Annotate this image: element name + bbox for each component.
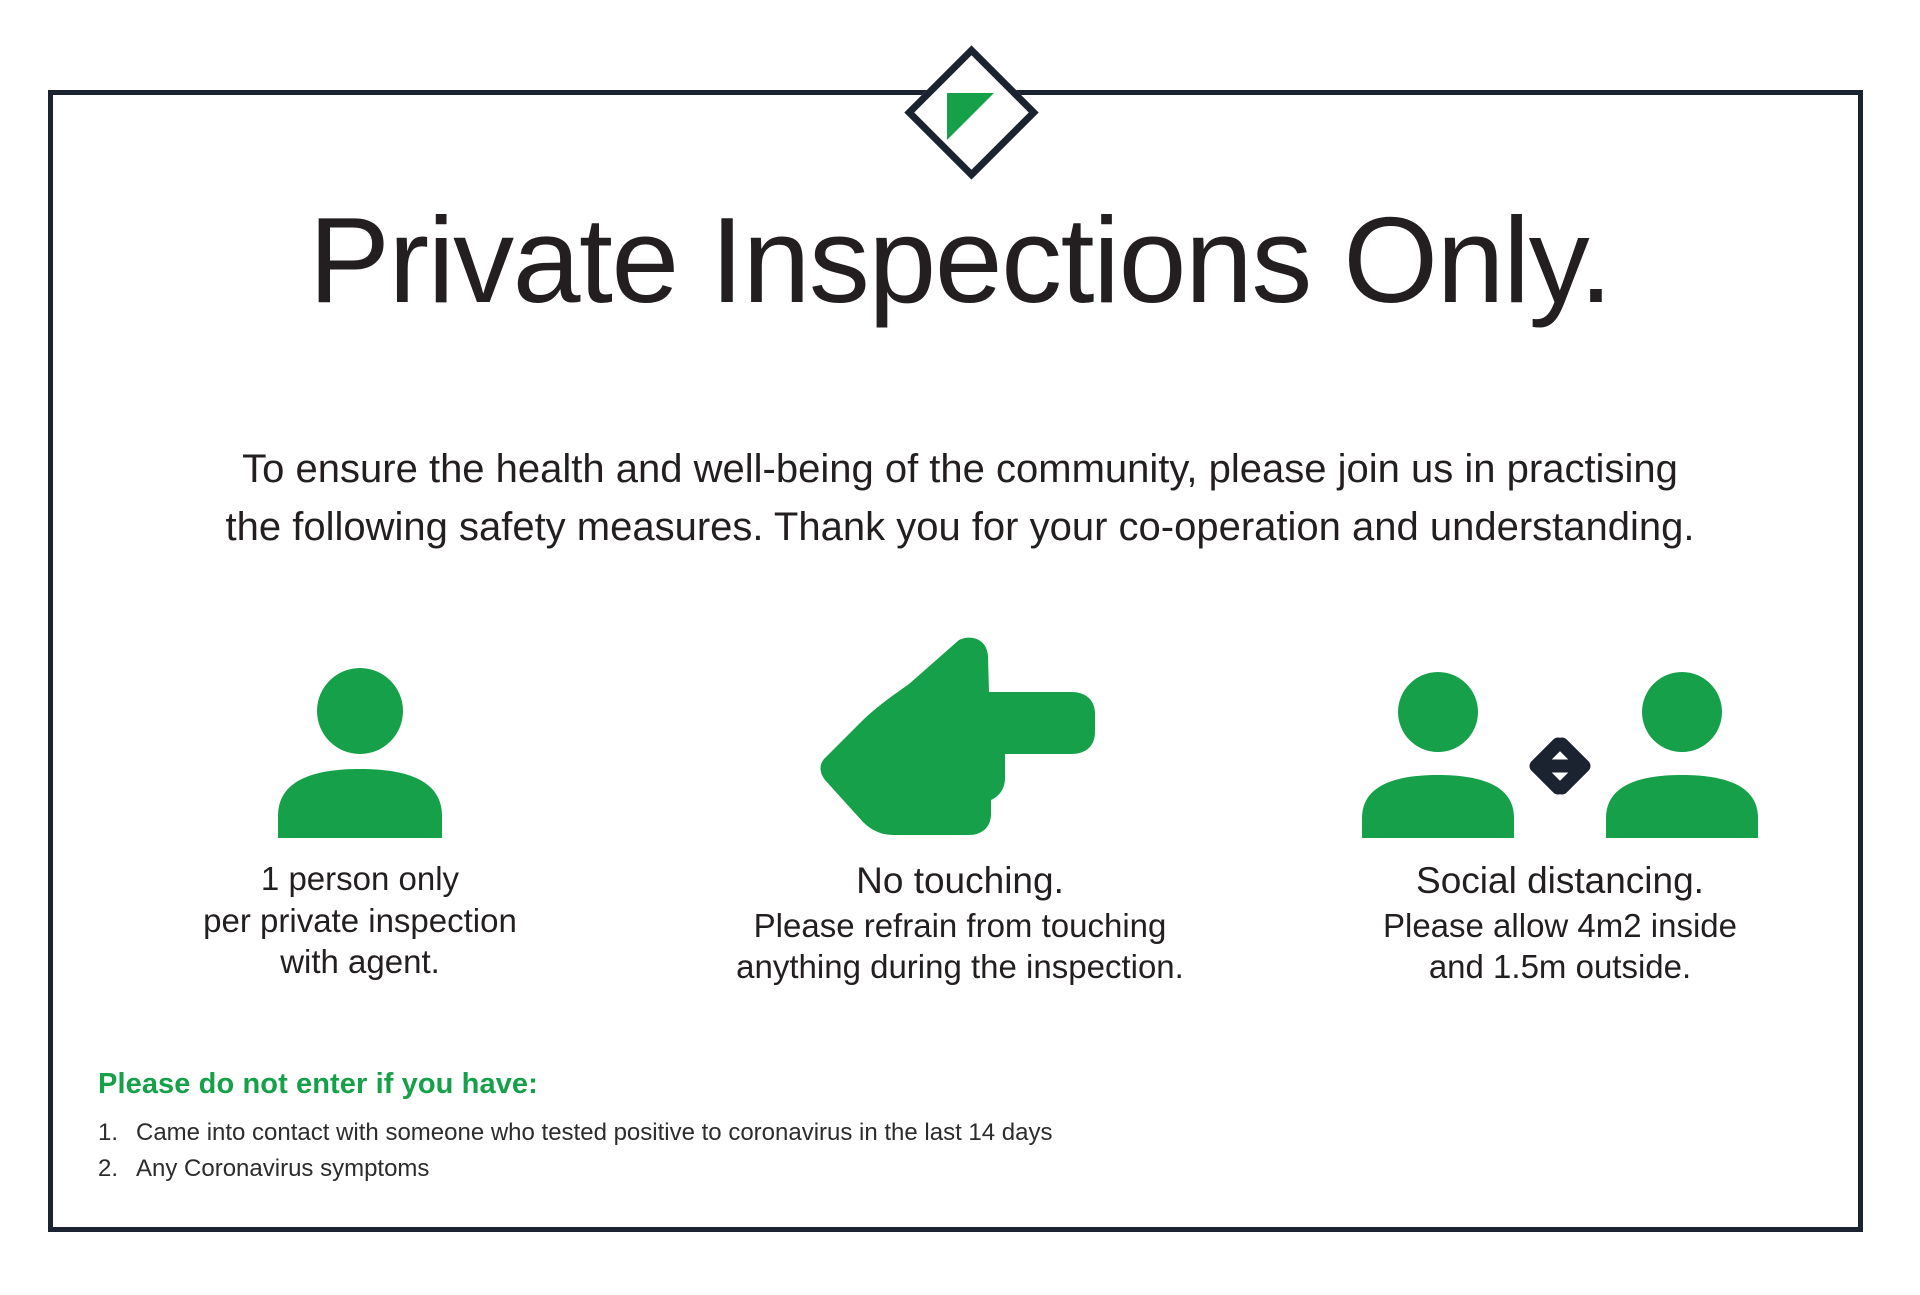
- measure-social-distancing: Social distancing. Please allow 4m2 insi…: [1260, 606, 1860, 988]
- notice-heading: Please do not enter if you have:: [98, 1068, 1598, 1101]
- measure-caption: No touching. Please refrain from touchin…: [736, 858, 1184, 988]
- list-item-number: 1.: [98, 1115, 136, 1151]
- brand-logo: [905, 46, 1038, 179]
- measure-heading: 1 person only: [203, 858, 517, 900]
- green-triangle-icon: [947, 93, 994, 140]
- measure-caption: 1 person only per private inspection wit…: [203, 858, 517, 983]
- list-item-number: 2.: [98, 1151, 136, 1187]
- list-item: 2. Any Coronavirus symptoms: [98, 1151, 1598, 1187]
- pointing-hand-icon: [819, 636, 1101, 838]
- intro-line-1: To ensure the health and well-being of t…: [110, 440, 1810, 498]
- measure-line-2: anything during the inspection.: [736, 946, 1184, 988]
- measure-heading: Social distancing.: [1383, 858, 1737, 905]
- measure-icon-container: [272, 606, 448, 838]
- measure-line-1: per private inspection: [203, 900, 517, 942]
- do-not-enter-notice: Please do not enter if you have: 1. Came…: [98, 1068, 1598, 1188]
- safety-measures-row: 1 person only per private inspection wit…: [60, 606, 1860, 1026]
- list-item: 1. Came into contact with someone who te…: [98, 1115, 1598, 1151]
- measure-icon-container: [819, 606, 1101, 838]
- measure-line-1: Please refrain from touching: [736, 905, 1184, 947]
- measure-no-touching: No touching. Please refrain from touchin…: [660, 606, 1260, 988]
- list-item-text: Any Coronavirus symptoms: [136, 1151, 429, 1187]
- list-item-text: Came into contact with someone who teste…: [136, 1115, 1053, 1151]
- intro-line-2: the following safety measures. Thank you…: [110, 498, 1810, 556]
- measure-caption: Social distancing. Please allow 4m2 insi…: [1383, 858, 1737, 988]
- measure-icon-container: [1360, 606, 1760, 838]
- measure-line-2: and 1.5m outside.: [1383, 946, 1737, 988]
- page-title: Private Inspections Only.: [0, 196, 1920, 324]
- measure-line-2: with agent.: [203, 941, 517, 983]
- safety-poster: Private Inspections Only. To ensure the …: [0, 0, 1920, 1295]
- notice-list: 1. Came into contact with someone who te…: [98, 1115, 1598, 1188]
- intro-paragraph: To ensure the health and well-being of t…: [110, 440, 1810, 556]
- measure-single-person: 1 person only per private inspection wit…: [60, 606, 660, 983]
- social-distancing-icon: [1360, 672, 1760, 838]
- single-person-icon: [272, 668, 448, 838]
- measure-line-1: Please allow 4m2 inside: [1383, 905, 1737, 947]
- measure-heading: No touching.: [736, 858, 1184, 905]
